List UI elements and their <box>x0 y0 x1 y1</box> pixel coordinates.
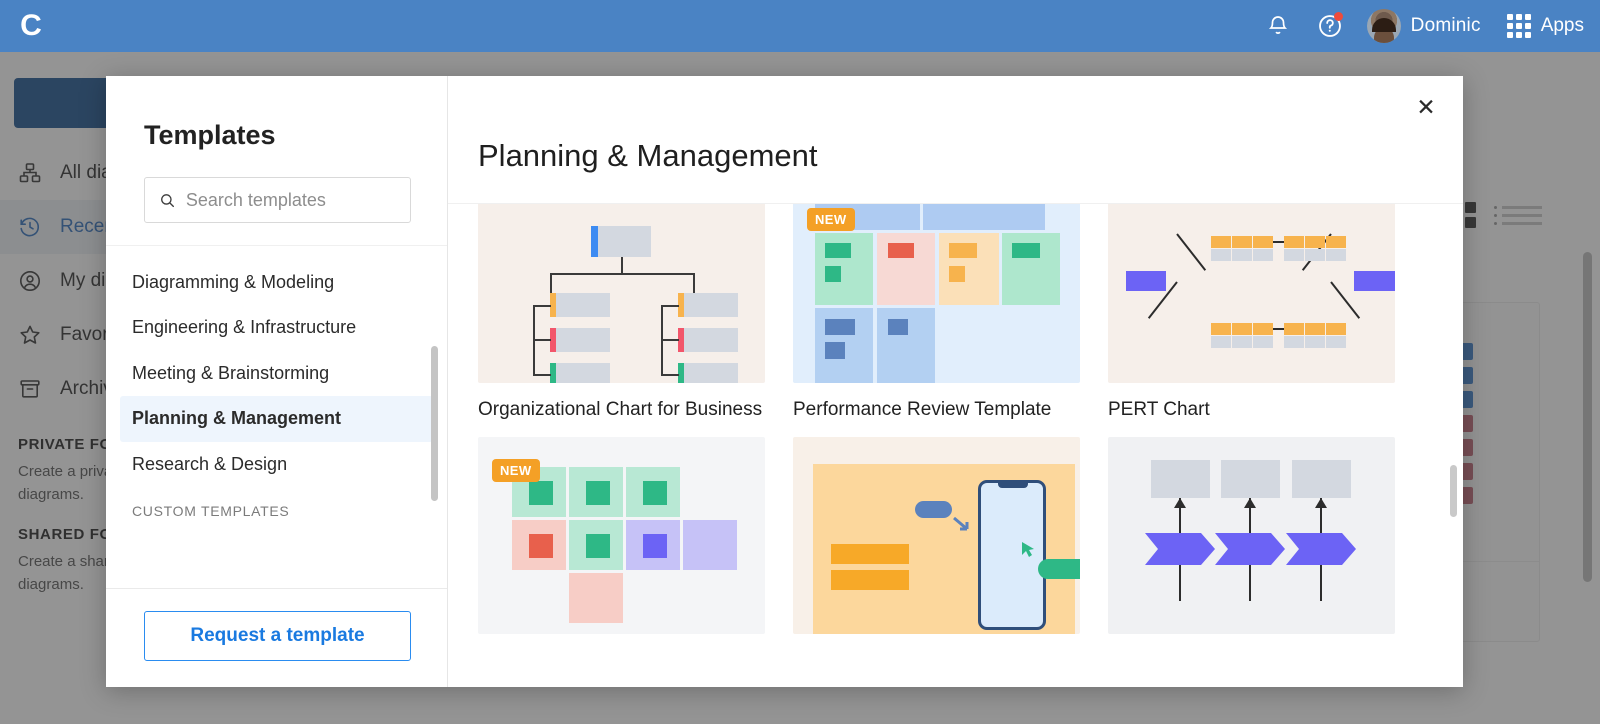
template-thumbnail: NEW <box>478 437 765 634</box>
template-card[interactable]: PERT Chart <box>1108 186 1395 421</box>
template-thumbnail: NEW <box>793 186 1080 383</box>
arrow-icon <box>953 517 973 535</box>
user-menu[interactable]: Dominic <box>1367 9 1481 43</box>
apps-grid-icon <box>1507 14 1531 38</box>
category-list: Diagramming & Modeling Engineering & Inf… <box>106 245 447 588</box>
template-grid-scrollbar[interactable] <box>1450 465 1457 517</box>
category-list-inner: Diagramming & Modeling Engineering & Inf… <box>106 246 447 525</box>
category-scrollbar[interactable] <box>431 346 438 501</box>
help-circle-icon[interactable] <box>1315 11 1345 41</box>
search-box[interactable] <box>144 177 411 223</box>
screen-root: C Dominic <box>0 0 1600 724</box>
template-title: Organizational Chart for Business <box>478 399 765 421</box>
top-header-bar: C Dominic <box>0 0 1600 52</box>
search-section <box>106 151 447 223</box>
page-title: Planning & Management <box>478 138 818 174</box>
template-card[interactable]: Organizational Chart for Business <box>478 186 765 421</box>
cacoo-logo-icon[interactable]: C <box>14 9 48 43</box>
category-item-planning-management[interactable]: Planning & Management <box>120 396 433 441</box>
category-item-research-design[interactable]: Research & Design <box>120 442 433 487</box>
template-card[interactable]: NEW <box>793 186 1080 421</box>
close-icon[interactable]: ✕ <box>1411 92 1441 122</box>
new-badge: NEW <box>807 208 855 231</box>
search-icon <box>159 191 176 210</box>
top-header-right: Dominic Apps <box>1263 9 1600 43</box>
chevron-shape <box>1286 533 1356 565</box>
apps-menu[interactable]: Apps <box>1507 14 1584 38</box>
template-title: PERT Chart <box>1108 399 1395 421</box>
template-thumbnail <box>1108 186 1395 383</box>
modal-sidebar: Templates Diagramming & Modeling Enginee… <box>106 76 448 687</box>
template-card[interactable]: NEW <box>478 437 765 650</box>
category-item-meeting-brainstorming[interactable]: Meeting & Brainstorming <box>120 351 433 396</box>
template-grid: Organizational Chart for Business NEW <box>478 186 1433 650</box>
category-header: Planning & Management <box>448 76 1463 204</box>
template-card[interactable] <box>793 437 1080 650</box>
search-input[interactable] <box>186 190 396 211</box>
cursor-icon <box>1020 541 1036 559</box>
new-badge: NEW <box>492 459 540 482</box>
modal-sidebar-footer: Request a template <box>106 588 447 687</box>
template-thumbnail <box>478 186 765 383</box>
template-title: Performance Review Template <box>793 399 1080 421</box>
category-item-diagramming-modeling[interactable]: Diagramming & Modeling <box>120 260 433 305</box>
help-notification-dot <box>1334 12 1343 21</box>
apps-label: Apps <box>1541 15 1584 37</box>
user-name-label: Dominic <box>1411 15 1481 37</box>
template-thumbnail <box>1108 437 1395 634</box>
category-item-engineering-infrastructure[interactable]: Engineering & Infrastructure <box>120 305 433 350</box>
avatar <box>1367 9 1401 43</box>
chevron-shape <box>1215 533 1285 565</box>
bell-icon[interactable] <box>1263 11 1293 41</box>
templates-modal: Templates Diagramming & Modeling Enginee… <box>106 76 1463 687</box>
request-template-button[interactable]: Request a template <box>144 611 411 661</box>
template-thumbnail <box>793 437 1080 634</box>
template-card[interactable] <box>1108 437 1395 650</box>
chevron-shape <box>1145 533 1215 565</box>
modal-content: Office Floor Plan One Pager Template Org… <box>448 76 1463 687</box>
modal-title: Templates <box>106 76 447 151</box>
custom-templates-label: CUSTOM TEMPLATES <box>120 487 433 525</box>
